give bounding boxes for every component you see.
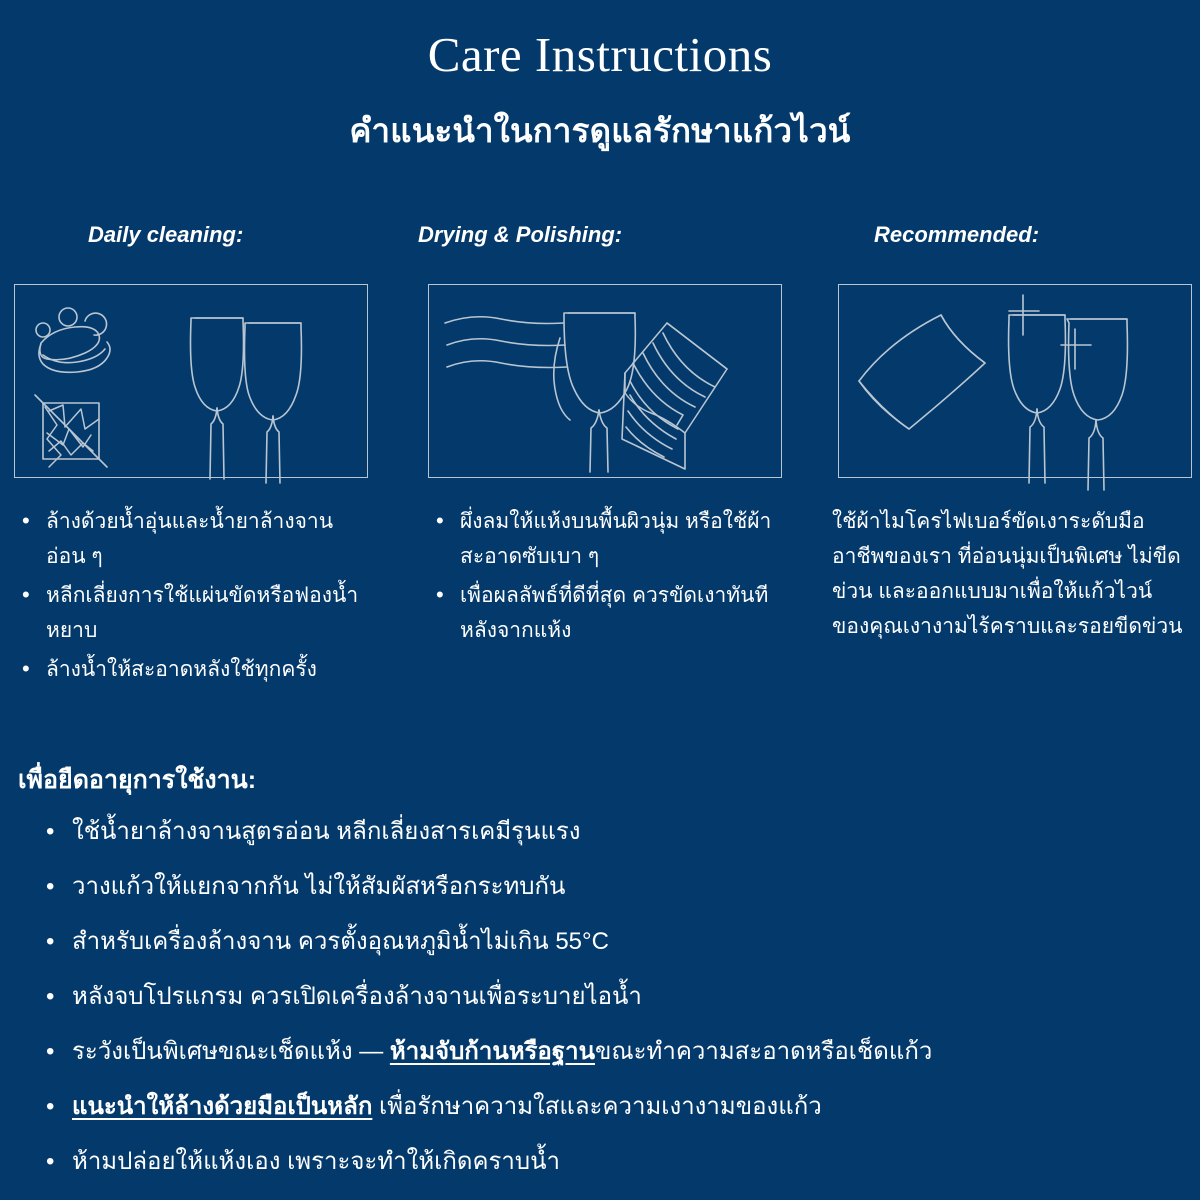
list-item: แนะนำให้ล้างด้วยมือเป็นหลัก เพื่อรักษาคว…: [40, 1085, 1190, 1140]
illustration-box-drying-polishing: [428, 284, 782, 478]
bullet-list-daily-cleaning: ล้างด้วยน้ำอุ่นและน้ำยาล้างจานอ่อน ๆ หลี…: [18, 504, 363, 687]
tip-highlight: ห้ามจับก้านหรือฐาน: [390, 1038, 595, 1065]
list-item: ผึ่งลมให้แห้งบนพื้นผิวนุ่ม หรือใช้ผ้าสะอ…: [432, 504, 777, 574]
list-item: ล้างน้ำให้สะอาดหลังใช้ทุกครั้ง: [18, 652, 363, 687]
column-heading-drying-polishing: Drying & Polishing:: [418, 222, 622, 248]
wine-glass-pair-icon: [191, 318, 302, 483]
list-item: สำหรับเครื่องล้างจาน ควรตั้งอุณหภูมิน้ำไ…: [40, 920, 1190, 975]
tip-post: ใช้น้ำยาล้างจานสูตรอ่อน หลีกเลี่ยงสารเคม…: [72, 818, 581, 845]
tip-pre: ระวังเป็นพิเศษขณะเช็ดแห้ง —: [72, 1038, 390, 1065]
column-heading-recommended: Recommended:: [874, 222, 1039, 248]
recommended-paragraph: ใช้ผ้าไมโครไฟเบอร์ขัดเงาระดับมืออาชีพของ…: [832, 504, 1188, 644]
longevity-heading: เพื่อยืดอายุการใช้งาน:: [18, 760, 256, 800]
list-item: ล้างด้วยน้ำอุ่นและน้ำยาล้างจานอ่อน ๆ: [18, 504, 363, 574]
tip-post: วางแก้วให้แยกจากกัน ไม่ให้สัมผัสหรือกระท…: [72, 873, 565, 900]
tip-post: สำหรับเครื่องล้างจาน ควรตั้งอุณหภูมิน้ำไ…: [72, 928, 609, 955]
column-text-recommended: ใช้ผ้าไมโครไฟเบอร์ขัดเงาระดับมืออาชีพของ…: [832, 504, 1188, 644]
polishing-cloth-icon: [622, 323, 727, 469]
no-abrasive-pad-icon: [35, 395, 107, 467]
page-title-english: Care Instructions: [0, 26, 1200, 83]
wine-glass-pair-icon: [1009, 315, 1128, 490]
care-instructions-page: Care Instructions คำแนะนำในการดูแลรักษาแ…: [0, 0, 1200, 1200]
tip-post: เพื่อรักษาความใสและความเงางามของแก้ว: [372, 1093, 821, 1120]
illustration-box-recommended: [838, 284, 1192, 478]
list-item: หลังจบโปรแกรม ควรเปิดเครื่องล้างจานเพื่อ…: [40, 975, 1190, 1030]
airflow-lines-icon: [445, 317, 567, 368]
list-item: ห้ามปล่อยให้แห้งเอง เพราะจะทำให้เกิดคราบ…: [40, 1140, 1190, 1195]
bullet-list-drying-polishing: ผึ่งลมให้แห้งบนพื้นผิวนุ่ม หรือใช้ผ้าสะอ…: [432, 504, 777, 648]
longevity-tips-list: ใช้น้ำยาล้างจานสูตรอ่อน หลีกเลี่ยงสารเคม…: [40, 810, 1190, 1195]
column-text-drying-polishing: ผึ่งลมให้แห้งบนพื้นผิวนุ่ม หรือใช้ผ้าสะอ…: [432, 504, 777, 652]
list-item: วางแก้วให้แยกจากกัน ไม่ให้สัมผัสหรือกระท…: [40, 865, 1190, 920]
illustration-box-daily-cleaning: [14, 284, 368, 478]
microfiber-cloth-icon: [859, 315, 985, 429]
list-item: ใช้น้ำยาล้างจานสูตรอ่อน หลีกเลี่ยงสารเคม…: [40, 810, 1190, 865]
tip-highlight: แนะนำให้ล้างด้วยมือเป็นหลัก: [72, 1093, 372, 1120]
column-heading-daily-cleaning: Daily cleaning:: [88, 222, 243, 248]
column-text-daily-cleaning: ล้างด้วยน้ำอุ่นและน้ำยาล้างจานอ่อน ๆ หลี…: [18, 504, 363, 691]
sponge-icon: [36, 308, 110, 372]
sparkle-icons: [1009, 295, 1091, 369]
list-item: ระวังเป็นพิเศษขณะเช็ดแห้ง — ห้ามจับก้านห…: [40, 1030, 1190, 1085]
tip-post: หลังจบโปรแกรม ควรเปิดเครื่องล้างจานเพื่อ…: [72, 983, 642, 1010]
list-item: หลีกเลี่ยงการใช้แผ่นขัดหรือฟองน้ำหยาบ: [18, 578, 363, 648]
tip-post: ห้ามปล่อยให้แห้งเอง เพราะจะทำให้เกิดคราบ…: [72, 1148, 560, 1175]
wine-glass-icon: [554, 313, 636, 472]
page-title-thai: คำแนะนำในการดูแลรักษาแก้วไวน์: [0, 104, 1200, 157]
tip-post: ขณะทำความสะอาดหรือเช็ดแก้ว: [595, 1038, 932, 1065]
list-item: เพื่อผลลัพธ์ที่ดีที่สุด ควรขัดเงาทันทีหล…: [432, 578, 777, 648]
